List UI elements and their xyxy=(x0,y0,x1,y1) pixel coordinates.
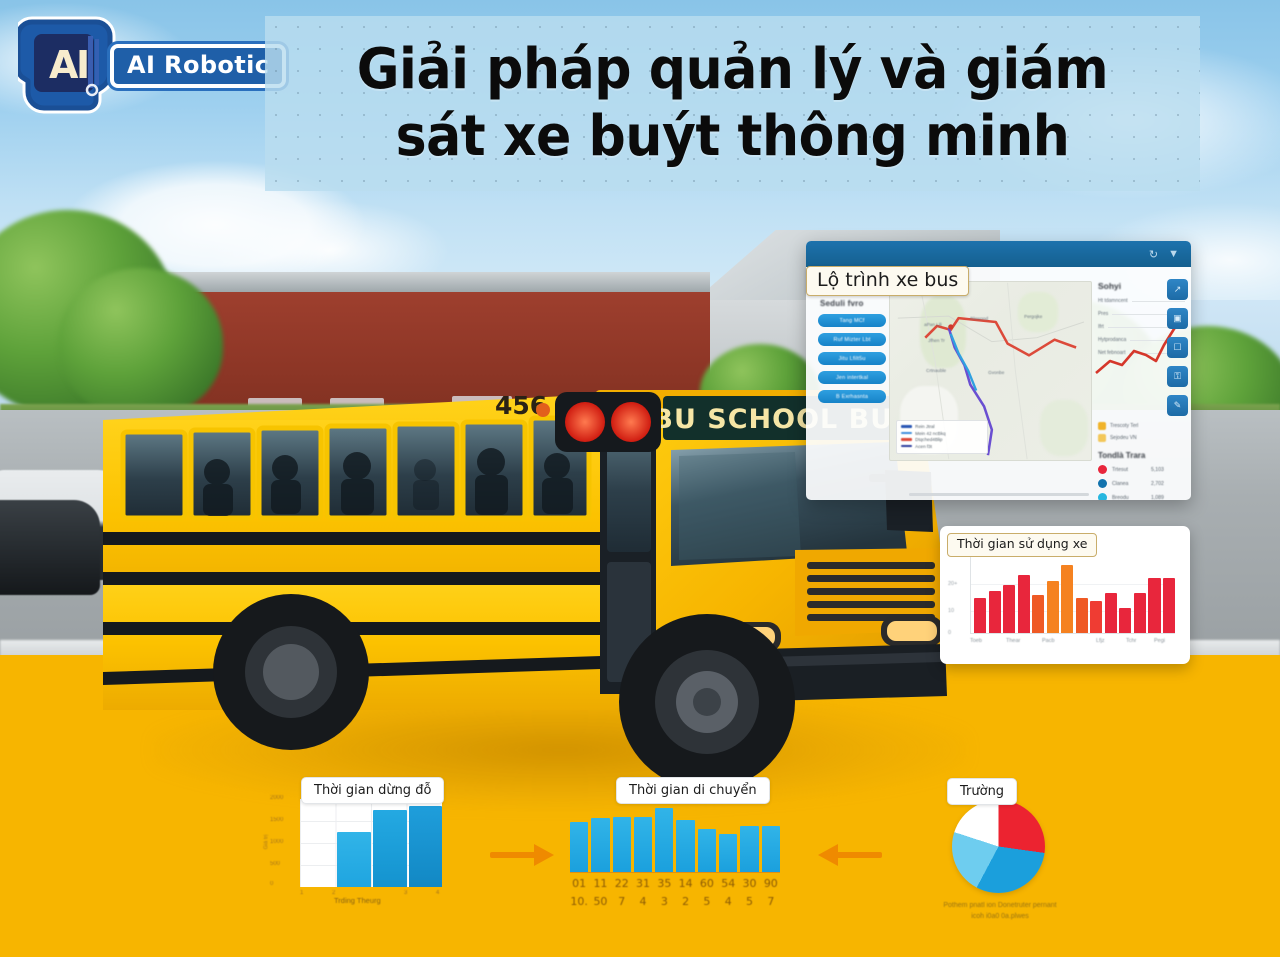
map-legend-label: Mein 42 ncBkq xyxy=(915,431,945,436)
usage-bar xyxy=(1018,575,1030,633)
legend-value: 1,089 xyxy=(1151,495,1164,501)
travel-x-tick: 54 xyxy=(719,877,737,890)
travel-x-tick: 31 xyxy=(634,877,652,890)
travel-bar xyxy=(762,826,780,872)
travel-chart-badge-label: Thời gian di chuyển xyxy=(629,783,757,798)
legend-dot xyxy=(1098,479,1107,488)
sidebar-button-5-label: B Exrhasnta xyxy=(836,394,868,400)
stop-y-axis-title: Giá trị xyxy=(263,835,269,850)
filter-icon[interactable]: ▼ xyxy=(1168,248,1179,260)
travel-sublabel: 4 xyxy=(719,895,737,908)
right-chip: Sejodeu VN xyxy=(1098,434,1185,442)
travel-time-chart[interactable]: 01 11 22 31 35 14 60 54 30 90 10. 50 7 4… xyxy=(570,805,785,915)
travel-sublabel: 5 xyxy=(740,895,758,908)
stop-chart-badge-label: Thời gian dừng đỗ xyxy=(314,783,431,798)
legend-dot xyxy=(1098,465,1107,474)
travel-bar xyxy=(634,817,652,872)
pie-chart-badge: Trường xyxy=(947,778,1017,805)
travel-x-tick: 90 xyxy=(762,877,780,890)
mobile-icon[interactable]: ☐ xyxy=(1167,337,1188,358)
stop-x-tick: 3 xyxy=(404,890,407,896)
dashboard-titlebar: ↻ ▼ xyxy=(806,241,1191,267)
map-place-label: Crtnauble xyxy=(926,368,946,373)
usage-x-tick: Thear xyxy=(1006,638,1020,644)
travel-x-tick: 11 xyxy=(591,877,609,890)
pie-caption: Pothem pnatl ion Donetruter pernant icoh… xyxy=(939,900,1061,922)
usage-chart-badge-label: Thời gian sử dụng xe xyxy=(957,536,1087,551)
refresh-icon[interactable]: ↻ xyxy=(1149,248,1158,261)
sidebar-button-4[interactable]: Jen intertkal xyxy=(818,371,886,384)
stop-y-tick: 500 xyxy=(270,861,280,867)
travel-x-tick: 60 xyxy=(698,877,716,890)
route-panel-badge: Lộ trình xe bus xyxy=(806,266,969,296)
stop-y-tick: 2000 xyxy=(270,795,283,801)
map-legend-label: Dtqched4Blip xyxy=(915,437,942,442)
right-row-label: Ht tdamncent xyxy=(1098,298,1128,304)
travel-sublabel: 10. xyxy=(570,895,588,908)
svg-text:I: I xyxy=(76,43,90,87)
stop-x-tick: 1 xyxy=(300,890,303,896)
sidebar-button-3[interactable]: Jitu Lfilt5u xyxy=(818,352,886,365)
arrow-shaft xyxy=(834,852,882,858)
sidebar-button-4-label: Jen intertkal xyxy=(836,375,868,381)
travel-sublabel: 2 xyxy=(676,895,694,908)
stop-y-tick: 1000 xyxy=(270,839,283,845)
usage-bar xyxy=(974,598,986,633)
usage-x-tick: Lfjz xyxy=(1096,638,1105,644)
map-legend-item: Dtqched4Blip xyxy=(901,437,983,442)
ai-robot-mark-icon: A I xyxy=(18,12,122,116)
lock-icon[interactable]: ⚿ xyxy=(1167,366,1188,387)
usage-bar xyxy=(1163,578,1175,633)
chip-swatch xyxy=(1098,422,1106,430)
usage-x-tick: Toeb xyxy=(970,638,982,644)
stop-x-tick: 4 xyxy=(436,890,439,896)
travel-bar xyxy=(570,822,588,872)
usage-bar xyxy=(989,591,1001,633)
travel-bar-plot xyxy=(570,805,780,873)
arrow-left-icon xyxy=(818,838,882,872)
school-roof xyxy=(150,272,710,294)
travel-x-tick: 01 xyxy=(570,877,588,890)
arrow-head xyxy=(818,844,838,866)
travel-bar xyxy=(719,834,737,872)
route-panel-badge-label: Lộ trình xe bus xyxy=(817,269,958,291)
share-icon[interactable]: ↗ xyxy=(1167,279,1188,300)
poster-canvas: BU SCHOOL BUS 456 xyxy=(0,0,1280,957)
legend-label: Breodu xyxy=(1112,495,1146,501)
sidebar-button-1[interactable]: Tang MCf xyxy=(818,314,886,327)
travel-sublabel: 50 xyxy=(591,895,609,908)
stop-bar xyxy=(409,806,443,887)
svg-text:A: A xyxy=(49,43,79,87)
map-legend-label: Acen f3t xyxy=(915,444,932,449)
map-place-label: Rlewood xyxy=(970,316,988,321)
sidebar-button-2[interactable]: Ruf Mizter Lbt xyxy=(818,333,886,346)
brand-name-text: AI Robotic xyxy=(127,51,269,79)
usage-y-tick: 20+ xyxy=(948,581,957,587)
usage-bar xyxy=(1061,565,1073,633)
stop-bar-plot xyxy=(300,799,442,887)
map-place-label: aPan Lili xyxy=(924,322,942,327)
stop-y-tick: 1500 xyxy=(270,817,283,823)
stop-bar xyxy=(373,810,407,887)
map-place-label: Pergojke xyxy=(1024,314,1042,319)
sidebar-title: Seduli fvro xyxy=(820,299,889,308)
sidebar-button-3-label: Jitu Lfilt5u xyxy=(838,356,865,362)
legend-label: Trtesut xyxy=(1112,467,1146,473)
parked-car-dark xyxy=(0,500,100,595)
arrow-head xyxy=(534,844,554,866)
usage-bar xyxy=(1047,581,1059,633)
travel-sublabel: 7 xyxy=(762,895,780,908)
stop-y-tick: 0 xyxy=(270,881,273,887)
dashboard-body: Seduli fvro Tang MCf Ruf Mizter Lbt Jitu… xyxy=(806,267,1191,500)
arrow-right-icon xyxy=(490,838,554,872)
travel-x-tick: 35 xyxy=(655,877,673,890)
right-legend-item: Clanea 2,702 xyxy=(1098,479,1185,488)
right-legend-item: Breodu 1,089 xyxy=(1098,493,1185,500)
travel-sublabel-row: 10. 50 7 4 3 2 5 4 5 7 xyxy=(570,895,780,908)
travel-bar xyxy=(676,820,694,872)
brand-wordmark: AI Robotic xyxy=(110,44,286,88)
travel-sublabel: 4 xyxy=(634,895,652,908)
right-chip: Trescoty Terl xyxy=(1098,422,1185,430)
map-legend-item: Rein Jtral xyxy=(901,424,983,429)
brand-logo[interactable]: A I AI Robotic xyxy=(14,8,264,120)
stop-x-axis-title: Trding Theurg xyxy=(334,896,381,905)
chip-label: Trescoty Terl xyxy=(1110,423,1138,429)
travel-x-tick-row: 01 11 22 31 35 14 60 54 30 90 xyxy=(570,877,780,890)
dashboard-sidebar: Seduli fvro Tang MCf Ruf Mizter Lbt Jitu… xyxy=(812,275,889,500)
legend-value: 5,103 xyxy=(1151,467,1164,473)
legend-swatch xyxy=(901,438,912,441)
route-map[interactable]: ▢ ⚑ aPan Lili Rlewood Perg xyxy=(889,281,1092,461)
usage-bar xyxy=(1119,608,1131,633)
travel-x-tick: 30 xyxy=(740,877,758,890)
legend-value: 2,702 xyxy=(1151,481,1164,487)
usage-y-tick: 10 xyxy=(948,608,954,614)
legend-label: Clanea xyxy=(1112,481,1146,487)
chip-swatch xyxy=(1098,434,1106,442)
stop-bar xyxy=(337,832,372,887)
map-legend: Rein Jtral Mein 42 ncBkq Dtqched4Blip Ac… xyxy=(896,420,988,454)
usage-bar xyxy=(1105,593,1117,633)
legend-swatch xyxy=(901,445,912,448)
edit-icon[interactable]: ✎ xyxy=(1167,395,1188,416)
usage-bar-plot xyxy=(970,556,1175,634)
map-place-label: Jfhen Tr xyxy=(928,338,945,343)
title-panel: Giải pháp quản lý và giám sát xe buýt th… xyxy=(265,16,1200,191)
sidebar-button-1-label: Tang MCf xyxy=(840,318,865,324)
dashboard-action-rail[interactable]: ↗ ▣ ☐ ⚿ ✎ xyxy=(1167,279,1188,416)
usage-x-tick: Tchr xyxy=(1126,638,1136,644)
sidebar-button-5[interactable]: B Exrhasnta xyxy=(818,390,886,403)
usage-bar xyxy=(1076,598,1088,633)
usage-chart-badge: Thời gian sử dụng xe xyxy=(947,533,1097,557)
legend-swatch xyxy=(901,425,912,428)
legend-dot xyxy=(1098,493,1107,500)
usage-x-tick: Pacb xyxy=(1042,638,1055,644)
travel-bar xyxy=(740,826,758,872)
stop-time-chart[interactable]: 2000 1500 1000 500 0 Giá trị 1 2 3 4 Trd… xyxy=(262,795,477,915)
right-legend-title: Tondlà Trara xyxy=(1098,451,1185,460)
usage-y-tick: 0 xyxy=(948,630,951,636)
right-legend-item: Trtesut 5,103 xyxy=(1098,465,1185,474)
stop-chart-badge: Thời gian dừng đỗ xyxy=(301,777,444,804)
map-legend-label: Rein Jtral xyxy=(915,424,934,429)
travel-chart-badge: Thời gian di chuyển xyxy=(616,777,770,804)
travel-sublabel: 3 xyxy=(655,895,673,908)
travel-sublabel: 5 xyxy=(698,895,716,908)
legend-swatch xyxy=(901,432,912,435)
travel-bar xyxy=(591,818,609,872)
map-legend-item: Mein 42 ncBkq xyxy=(901,431,983,436)
chip-label: Sejodeu VN xyxy=(1110,435,1137,441)
travel-bar xyxy=(655,808,673,872)
pie-graphic xyxy=(952,800,1045,893)
school-share-pie-chart[interactable]: Pothem pnatl ion Donetruter pernant icoh… xyxy=(940,792,1060,922)
travel-sublabel: 7 xyxy=(613,895,631,908)
usage-x-tick: Pegi xyxy=(1154,638,1165,644)
travel-x-tick: 14 xyxy=(676,877,694,890)
usage-bar xyxy=(1032,595,1044,634)
map-place-label: Gvonbe xyxy=(988,370,1004,375)
arrow-shaft xyxy=(490,852,538,858)
usage-bar xyxy=(1134,593,1146,633)
usage-bar xyxy=(1148,578,1160,633)
usage-bar xyxy=(1090,601,1102,633)
map-legend-item: Acen f3t xyxy=(901,444,983,449)
travel-bar xyxy=(698,829,716,872)
travel-bar xyxy=(613,817,631,872)
page-title: Giải pháp quản lý và giám sát xe buýt th… xyxy=(316,37,1148,169)
pie-chart-badge-label: Trường xyxy=(960,784,1004,799)
save-icon[interactable]: ▣ xyxy=(1167,308,1188,329)
travel-x-tick: 22 xyxy=(613,877,631,890)
horizontal-scrollbar[interactable] xyxy=(909,493,1089,496)
sidebar-button-2-label: Ruf Mizter Lbt xyxy=(834,337,871,343)
usage-bar xyxy=(1003,585,1015,633)
